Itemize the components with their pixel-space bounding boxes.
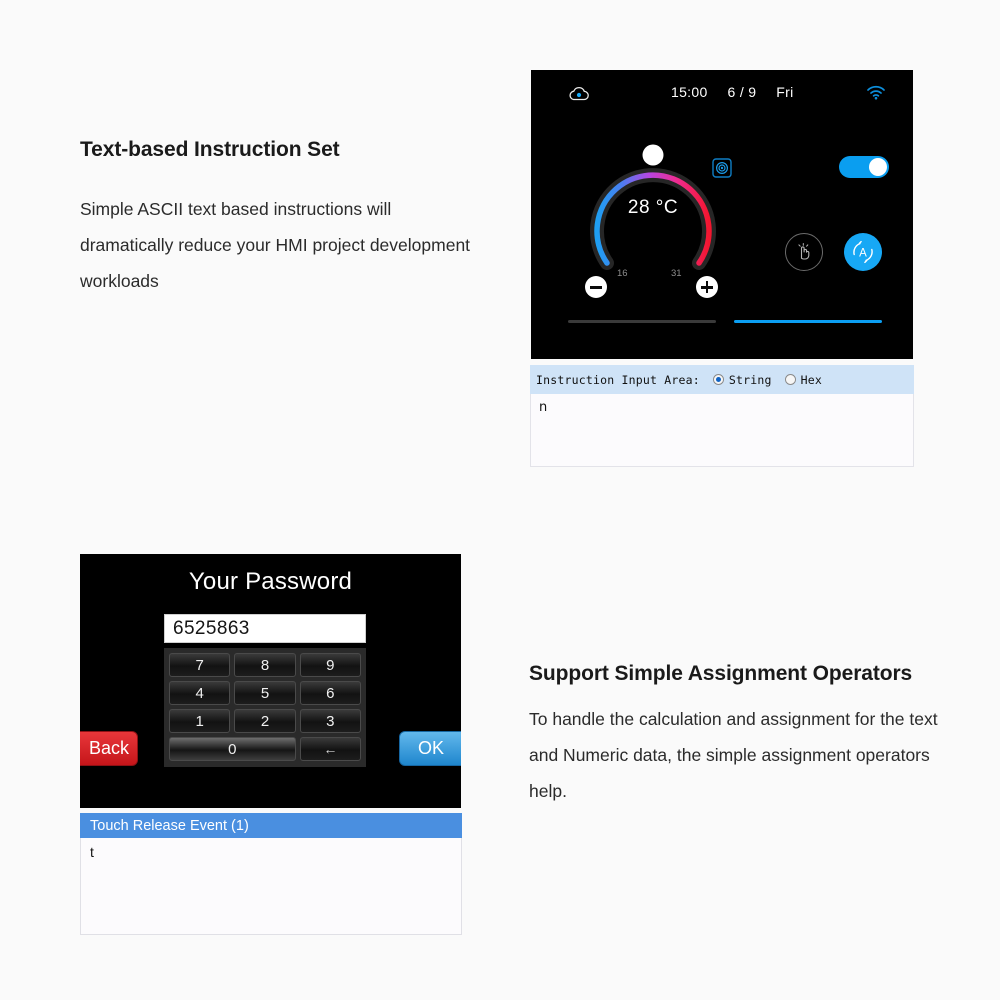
instruction-input-header: Instruction Input Area: String Hex — [530, 365, 914, 394]
password-input-field[interactable]: 6525863 — [164, 614, 366, 643]
status-weekday: Fri — [776, 84, 793, 100]
feature-title: Support Simple Assignment Operators — [529, 658, 954, 690]
power-toggle-switch[interactable] — [839, 156, 889, 178]
auto-mode-label: A — [859, 248, 867, 260]
toggle-knob — [869, 158, 887, 176]
radio-hex-dot[interactable] — [785, 374, 796, 385]
touch-release-event-area: Touch Release Event (1) t — [80, 813, 462, 935]
hmi-status-bar: 15:00 6 / 9 Fri — [531, 70, 913, 122]
numeric-keypad: 7 8 9 4 5 6 1 2 3 0 ← — [164, 648, 366, 767]
keypad-key[interactable]: 8 — [234, 653, 295, 677]
keypad-key[interactable]: 9 — [300, 653, 361, 677]
gauge-max-label: 31 — [671, 268, 682, 279]
gauge-knob — [643, 145, 664, 166]
radio-option-hex[interactable]: Hex — [785, 373, 822, 387]
slider-track-right[interactable] — [734, 320, 882, 323]
status-date: 6 / 9 — [728, 84, 757, 100]
radio-hex-label: Hex — [801, 373, 822, 387]
status-datetime: 15:00 6 / 9 Fri — [671, 84, 851, 100]
wifi-icon — [866, 85, 886, 105]
slider-track-left[interactable] — [568, 320, 716, 323]
keypad-key[interactable]: 7 — [169, 653, 230, 677]
instruction-input-label: Instruction Input Area: — [536, 373, 700, 387]
keypad-key[interactable]: 3 — [300, 709, 361, 733]
backspace-icon[interactable]: ← — [300, 737, 361, 761]
hmi-device-screen: 15:00 6 / 9 Fri — [531, 70, 913, 359]
auto-mode-icon[interactable]: A — [844, 233, 882, 271]
keypad-key-zero[interactable]: 0 — [169, 737, 296, 761]
ok-button[interactable]: OK — [399, 731, 461, 766]
feature-body: To handle the calculation and assignment… — [529, 702, 954, 810]
feature-title: Text-based Instruction Set — [80, 134, 480, 166]
keypad-key[interactable]: 5 — [234, 681, 295, 705]
feature-text-instruction-set: Text-based Instruction Set Simple ASCII … — [80, 134, 480, 300]
temperature-gauge[interactable]: 28 °C — [582, 143, 724, 275]
status-time: 15:00 — [671, 84, 708, 100]
plus-circle-icon[interactable] — [696, 276, 718, 298]
password-title: Your Password — [80, 568, 461, 596]
password-device-screen: Your Password 6525863 7 8 9 4 5 6 1 2 3 … — [80, 554, 461, 808]
back-button[interactable]: Back — [80, 731, 138, 766]
radio-option-string[interactable]: String — [713, 373, 772, 387]
event-textarea[interactable]: t — [80, 838, 462, 935]
minus-circle-icon[interactable] — [585, 276, 607, 298]
radio-string-label: String — [729, 373, 772, 387]
event-header: Touch Release Event (1) — [80, 813, 462, 838]
gauge-min-label: 16 — [617, 268, 628, 279]
keypad-key[interactable]: 6 — [300, 681, 361, 705]
radio-string-dot[interactable] — [713, 374, 724, 385]
keypad-key[interactable]: 1 — [169, 709, 230, 733]
fan-target-icon[interactable] — [712, 158, 732, 183]
cloud-sync-icon — [568, 84, 590, 107]
feature-assignment-operators: Support Simple Assignment Operators To h… — [529, 658, 954, 810]
instruction-input-area: Instruction Input Area: String Hex n — [530, 365, 914, 467]
hand-touch-icon[interactable] — [785, 233, 823, 271]
keypad-key[interactable]: 2 — [234, 709, 295, 733]
instruction-input-textarea[interactable]: n — [530, 394, 914, 467]
gauge-value: 28 °C — [582, 197, 724, 219]
keypad-key[interactable]: 4 — [169, 681, 230, 705]
feature-body: Simple ASCII text based instructions wil… — [80, 192, 480, 300]
